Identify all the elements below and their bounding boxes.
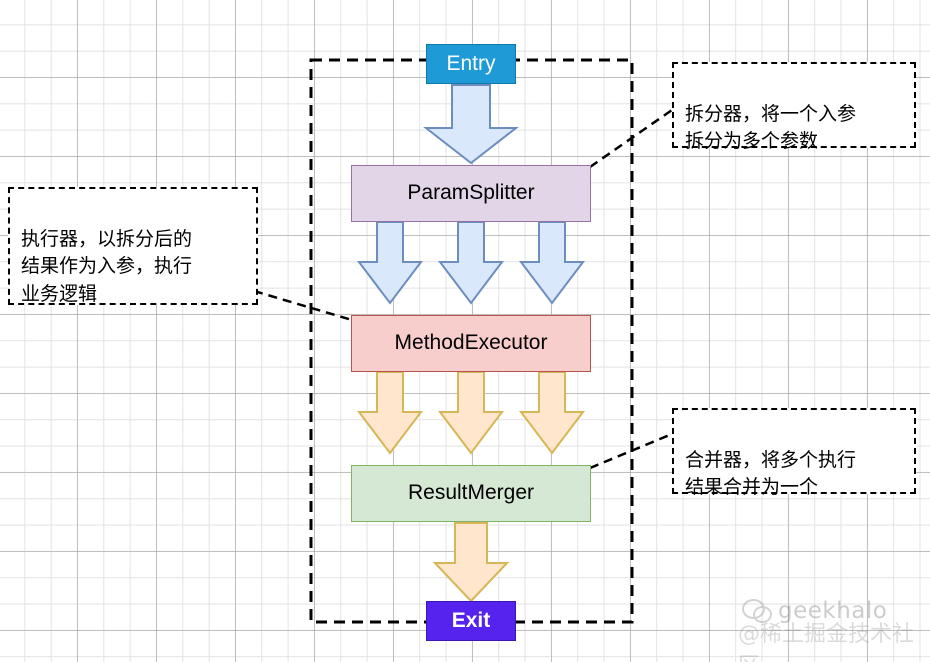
node-result-merger-label: ResultMerger: [408, 481, 534, 505]
arrow-entry-to-splitter: [426, 85, 516, 163]
arrow-executor-to-merger-2: [440, 372, 502, 453]
leader-line-splitter-note: [590, 110, 672, 167]
note-result-merger: 合并器，将多个执行 结果合并为一个: [672, 408, 916, 494]
arrow-executor-to-merger-3: [521, 372, 583, 453]
node-entry[interactable]: Entry: [426, 44, 516, 84]
watermark-handle: @稀土掘金技术社区: [738, 616, 922, 662]
arrow-splitter-to-executor-1: [359, 222, 421, 303]
leader-line-merger-note: [590, 434, 672, 468]
watermark: geekhalo @稀土掘金技术社区: [736, 592, 922, 654]
node-exit[interactable]: Exit: [426, 601, 516, 641]
arrow-merger-to-exit: [435, 523, 507, 601]
arrow-splitter-to-executor-2: [440, 222, 502, 303]
node-entry-label: Entry: [446, 52, 495, 76]
leader-line-executor-note: [254, 291, 352, 320]
node-exit-label: Exit: [452, 609, 491, 633]
wechat-icon: [742, 599, 772, 623]
arrow-splitter-to-executor-3: [521, 222, 583, 303]
note-param-splitter: 拆分器，将一个入参 拆分为多个参数: [672, 62, 916, 148]
watermark-brand-row: geekhalo: [742, 598, 887, 624]
note-param-splitter-text: 拆分器，将一个入参 拆分为多个参数: [685, 103, 856, 153]
note-method-executor-text: 执行器，以拆分后的 结果作为入参，执行 业务逻辑: [21, 228, 192, 305]
arrow-executor-to-merger-1: [359, 372, 421, 453]
node-method-executor-label: MethodExecutor: [395, 331, 548, 355]
watermark-brand: geekhalo: [778, 598, 887, 624]
note-method-executor: 执行器，以拆分后的 结果作为入参，执行 业务逻辑: [8, 187, 258, 305]
note-result-merger-text: 合并器，将多个执行 结果合并为一个: [685, 449, 856, 499]
node-method-executor[interactable]: MethodExecutor: [351, 315, 591, 372]
node-param-splitter-label: ParamSplitter: [407, 181, 534, 205]
node-param-splitter[interactable]: ParamSplitter: [351, 165, 591, 222]
diagram-canvas: Entry ParamSplitter MethodExecutor Resul…: [0, 0, 930, 662]
node-result-merger[interactable]: ResultMerger: [351, 465, 591, 522]
